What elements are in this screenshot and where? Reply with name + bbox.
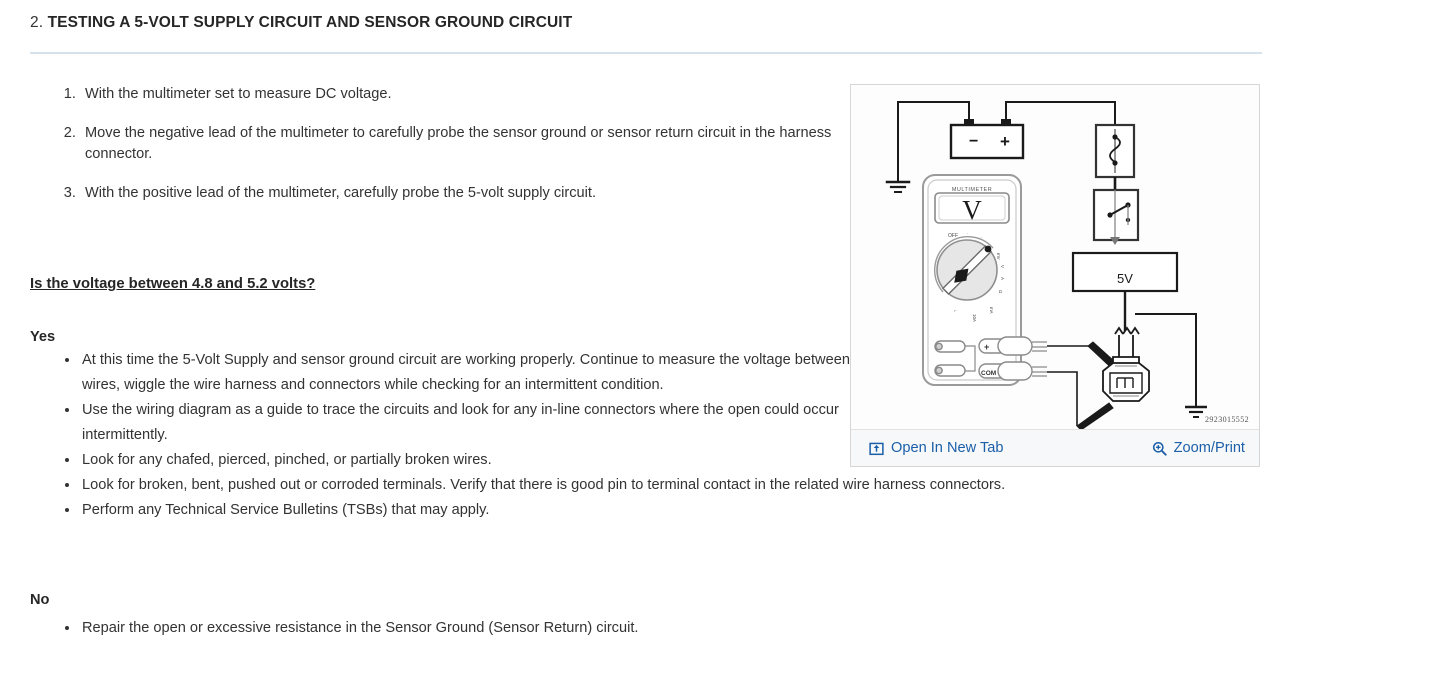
list-item: Repair the open or excessive resistance … xyxy=(80,616,1260,641)
list-item: With the multimeter set to measure DC vo… xyxy=(80,84,880,105)
page-root: 2. TESTING A 5-VOLT SUPPLY CIRCUIT AND S… xyxy=(0,0,1451,679)
answer-label-no: No xyxy=(30,592,49,608)
heading-divider xyxy=(30,52,1262,54)
figure-id-label: 2923015552 xyxy=(1205,415,1249,424)
list-item: Use the wiring diagram as a guide to tra… xyxy=(80,398,882,448)
svg-text:·: · xyxy=(981,235,982,240)
figure-panel: − + MULTIMETER V OFF xyxy=(850,84,1260,467)
open-in-new-tab-label: Open In New Tab xyxy=(891,440,1004,456)
decision-question: Is the voltage between 4.8 and 5.2 volts… xyxy=(30,276,315,292)
battery-positive-label: + xyxy=(1000,132,1010,151)
wiring-diagram-svg: − + MULTIMETER V OFF xyxy=(851,85,1259,430)
figure-toolbar: Open In New Tab Zoom/Print xyxy=(851,429,1259,466)
list-item: At this time the 5-Volt Supply and senso… xyxy=(80,348,882,398)
page-title: 2. TESTING A 5-VOLT SUPPLY CIRCUIT AND S… xyxy=(30,14,572,32)
zoom-print-button[interactable]: Zoom/Print xyxy=(1152,440,1245,456)
section-number: 2. xyxy=(30,14,43,31)
list-item: Move the negative lead of the multimeter… xyxy=(80,123,880,165)
magnifier-plus-icon xyxy=(1152,441,1167,456)
answer-label-yes: Yes xyxy=(30,329,55,345)
positive-jack-label: + xyxy=(984,342,989,352)
multimeter-display-value: V xyxy=(962,195,982,225)
section-title: TESTING A 5-VOLT SUPPLY CIRCUIT AND SENS… xyxy=(48,14,573,31)
supply-box-label: 5V xyxy=(1117,271,1133,286)
svg-text:V: V xyxy=(1000,265,1005,268)
svg-text:mA: mA xyxy=(989,307,994,314)
battery-negative-label: − xyxy=(969,133,978,150)
list-item: With the positive lead of the multimeter… xyxy=(80,183,880,204)
common-jack-label: COM xyxy=(981,370,996,377)
zoom-print-label: Zoom/Print xyxy=(1174,440,1245,456)
dial-off-label: OFF xyxy=(948,233,958,239)
procedure-steps: With the multimeter set to measure DC vo… xyxy=(52,84,880,222)
list-item: Perform any Technical Service Bulletins … xyxy=(80,498,1260,523)
list-item: Look for broken, bent, pushed out or cor… xyxy=(80,473,1260,498)
svg-text:A: A xyxy=(1000,277,1005,280)
no-answer-list: Repair the open or excessive resistance … xyxy=(58,616,1260,641)
svg-text:10A: 10A xyxy=(972,314,977,322)
multimeter-label: MULTIMETER xyxy=(952,187,992,193)
svg-text:·: · xyxy=(967,231,968,236)
open-in-new-tab-button[interactable]: Open In New Tab xyxy=(869,440,1004,456)
svg-text:mV: mV xyxy=(996,253,1001,260)
figure-image[interactable]: − + MULTIMETER V OFF xyxy=(851,85,1259,430)
open-in-new-tab-icon xyxy=(869,441,884,456)
svg-text:⌐: ⌐ xyxy=(954,308,957,313)
